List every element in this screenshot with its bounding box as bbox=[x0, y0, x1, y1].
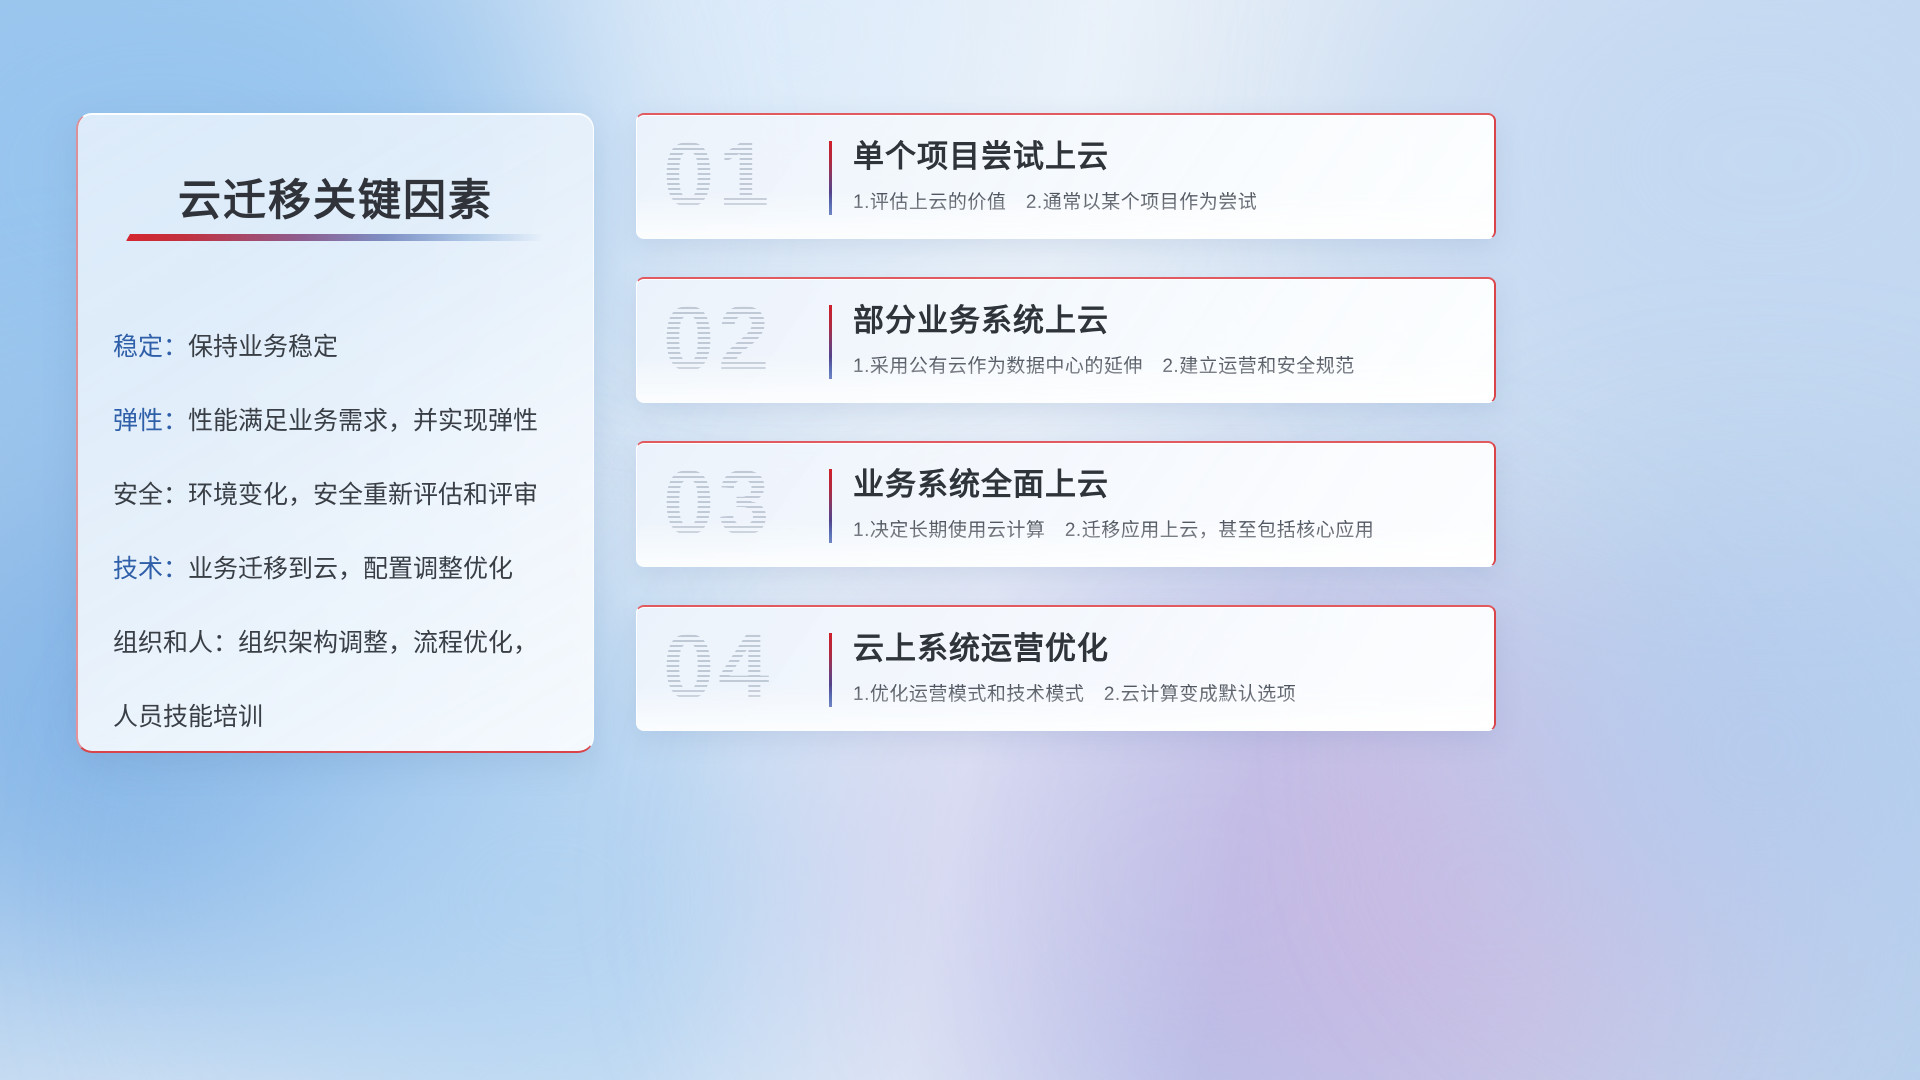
stage-number: 01 bbox=[663, 123, 773, 228]
factor-continuation-line: 人员技能培训 bbox=[113, 680, 569, 754]
stage-card[interactable]: 01 单个项目尝试上云 1.评估上云的价值 2.通常以某个项目作为尝试 bbox=[636, 113, 1496, 239]
factor-label: 组织和人： bbox=[113, 629, 238, 657]
factor-row: 技术：业务迁移到云，配置调整优化 bbox=[113, 532, 569, 606]
stage-card[interactable]: 03 业务系统全面上云 1.决定长期使用云计算 2.迁移应用上云，甚至包括核心应… bbox=[636, 441, 1496, 567]
stage-heading: 部分业务系统上云 bbox=[853, 299, 1474, 343]
cloud-migration-stages: 01 单个项目尝试上云 1.评估上云的价值 2.通常以某个项目作为尝试 02 部… bbox=[636, 113, 1496, 769]
stage-heading: 单个项目尝试上云 bbox=[853, 135, 1474, 179]
stage-heading: 业务系统全面上云 bbox=[853, 463, 1474, 507]
factor-text: 性能满足业务需求，并实现弹性 bbox=[188, 407, 538, 435]
stage-divider bbox=[829, 633, 832, 707]
stage-heading: 云上系统运营优化 bbox=[853, 627, 1474, 671]
factor-label: 稳定： bbox=[113, 333, 188, 361]
stage-subtitle: 1.评估上云的价值 2.通常以某个项目作为尝试 bbox=[853, 187, 1474, 214]
stage-number: 04 bbox=[663, 615, 773, 720]
factor-row: 安全：环境变化，安全重新评估和评审 bbox=[113, 458, 569, 532]
stage-subtitle: 1.优化运营模式和技术模式 2.云计算变成默认选项 bbox=[853, 679, 1474, 706]
stage-text-block: 业务系统全面上云 1.决定长期使用云计算 2.迁移应用上云，甚至包括核心应用 bbox=[853, 463, 1474, 542]
stage-card[interactable]: 04 云上系统运营优化 1.优化运营模式和技术模式 2.云计算变成默认选项 bbox=[636, 605, 1496, 731]
stage-divider bbox=[829, 141, 832, 215]
stage-text-block: 单个项目尝试上云 1.评估上云的价值 2.通常以某个项目作为尝试 bbox=[853, 135, 1474, 214]
factor-row: 组织和人：组织架构调整，流程优化， bbox=[113, 606, 569, 680]
stage-subtitle: 1.决定长期使用云计算 2.迁移应用上云，甚至包括核心应用 bbox=[853, 515, 1474, 542]
stage-card[interactable]: 02 部分业务系统上云 1.采用公有云作为数据中心的延伸 2.建立运营和安全规范 bbox=[636, 277, 1496, 403]
stage-number: 03 bbox=[663, 451, 773, 556]
factor-text: 环境变化，安全重新评估和评审 bbox=[188, 481, 538, 509]
factor-label: 技术： bbox=[113, 555, 188, 583]
stage-number: 02 bbox=[663, 287, 773, 392]
factor-text: 保持业务稳定 bbox=[188, 333, 338, 361]
key-factors-panel: 云迁移关键因素 稳定：保持业务稳定 弹性：性能满足业务需求，并实现弹性 安全：环… bbox=[76, 113, 594, 753]
factor-text: 业务迁移到云，配置调整优化 bbox=[188, 555, 513, 583]
factor-list: 稳定：保持业务稳定 弹性：性能满足业务需求，并实现弹性 安全：环境变化，安全重新… bbox=[113, 310, 569, 754]
stage-text-block: 云上系统运营优化 1.优化运营模式和技术模式 2.云计算变成默认选项 bbox=[853, 627, 1474, 706]
stage-divider bbox=[829, 469, 832, 543]
factor-text: 组织架构调整，流程优化， bbox=[238, 629, 538, 657]
title-underline-accent bbox=[126, 234, 544, 241]
factor-label: 安全： bbox=[113, 481, 188, 509]
stage-text-block: 部分业务系统上云 1.采用公有云作为数据中心的延伸 2.建立运营和安全规范 bbox=[853, 299, 1474, 378]
stage-divider bbox=[829, 305, 832, 379]
stage-subtitle: 1.采用公有云作为数据中心的延伸 2.建立运营和安全规范 bbox=[853, 351, 1474, 378]
panel-title: 云迁移关键因素 bbox=[78, 166, 593, 228]
factor-label: 弹性： bbox=[113, 407, 188, 435]
factor-row: 稳定：保持业务稳定 bbox=[113, 310, 569, 384]
factor-row: 弹性：性能满足业务需求，并实现弹性 bbox=[113, 384, 569, 458]
